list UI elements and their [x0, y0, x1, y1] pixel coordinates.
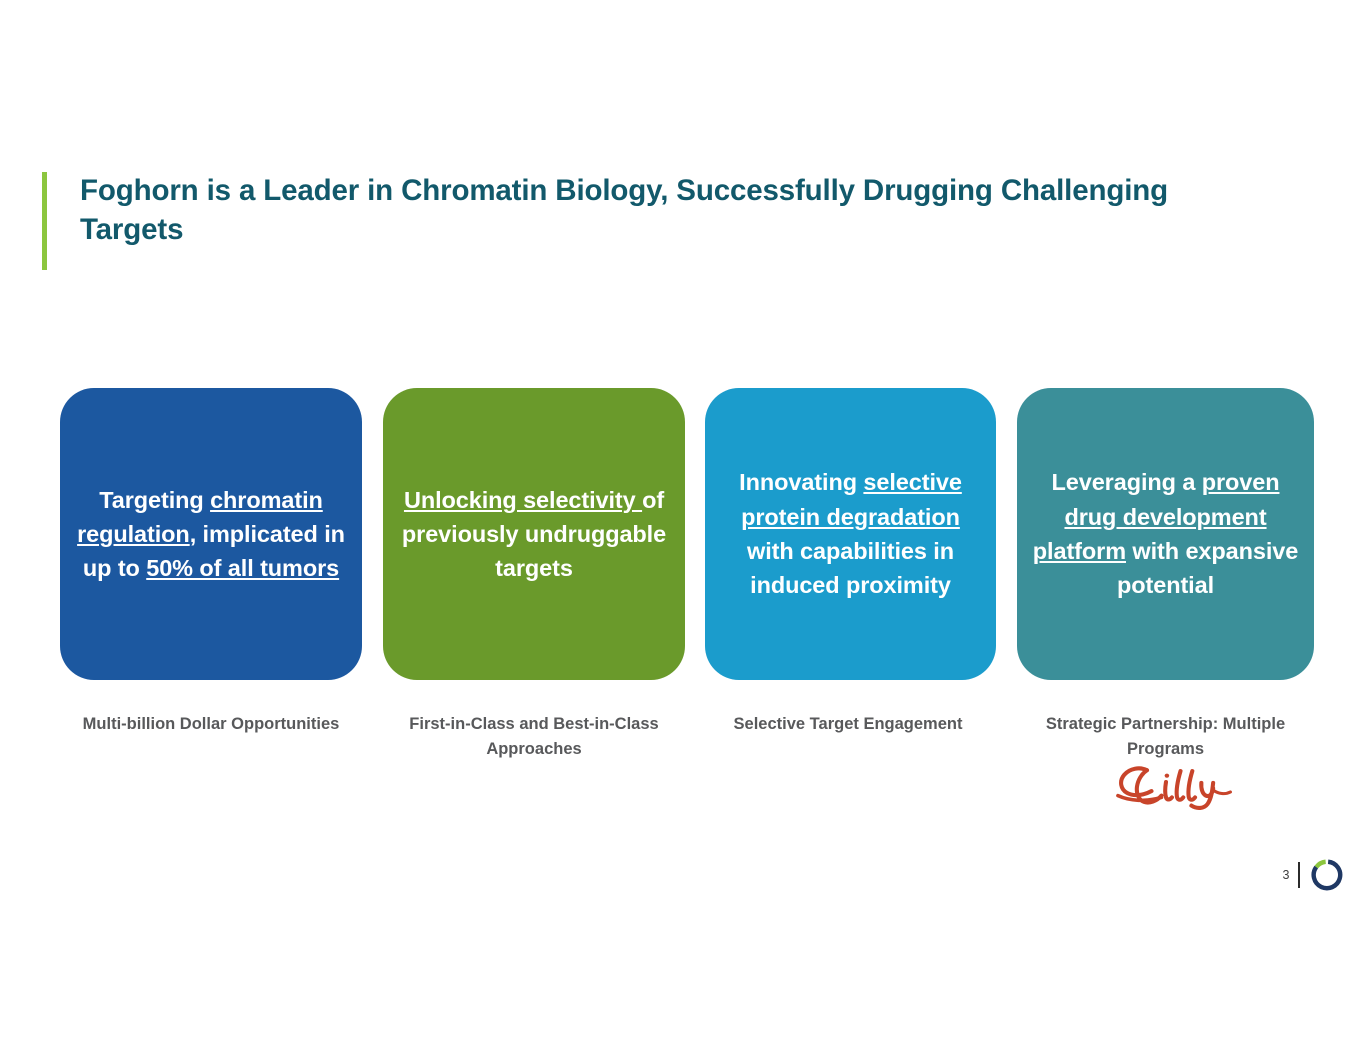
body-text: Innovating: [739, 469, 863, 495]
page-number: 3: [1282, 869, 1289, 882]
pillar-card-unlocking-selectivity[interactable]: Unlocking selectivity of previously undr…: [383, 388, 685, 680]
foghorn-ring-logo-icon: [1309, 858, 1343, 892]
pillar-caption-selective-target-engagement: Selective Target Engagement: [700, 712, 996, 737]
page-title-text: Foghorn is a Leader in Chromatin Biology…: [47, 172, 1172, 270]
body-text: with expansive potential: [1117, 538, 1298, 598]
body-text: with capabilities in induced proximity: [747, 538, 954, 598]
footer-divider: [1298, 862, 1300, 888]
pillar-caption-multi-billion-dollar-opportunities: Multi-billion Dollar Opportunities: [60, 712, 362, 737]
slide-footer: 3: [1282, 858, 1343, 892]
body-text: Leveraging a: [1052, 469, 1202, 495]
emphasis-text: 50% of all tumors: [146, 555, 339, 581]
body-text: Targeting: [99, 487, 210, 513]
emphasis-text: Unlocking selectivity: [404, 487, 642, 513]
pillar-card-row: Targeting chromatin regulation, implicat…: [60, 388, 1314, 680]
pillar-card-text: Leveraging a proven drug development pla…: [1027, 465, 1304, 602]
page-title: Foghorn is a Leader in Chromatin Biology…: [42, 172, 1172, 270]
pillar-card-text: Unlocking selectivity of previously undr…: [393, 483, 675, 586]
lilly-logo: [1098, 762, 1234, 812]
pillar-caption-strategic-partnership: Strategic Partnership: Multiple Programs: [1017, 712, 1314, 762]
pillar-card-drug-development-platform[interactable]: Leveraging a proven drug development pla…: [1017, 388, 1314, 680]
pillar-card-text: Innovating selective protein degradation…: [715, 465, 986, 602]
pillar-card-text: Targeting chromatin regulation, implicat…: [70, 483, 352, 586]
pillar-card-protein-degradation[interactable]: Innovating selective protein degradation…: [705, 388, 996, 680]
pillar-caption-first-in-class-approaches: First-in-Class and Best-in-Class Approac…: [383, 712, 685, 762]
pillar-card-chromatin-regulation[interactable]: Targeting chromatin regulation, implicat…: [60, 388, 362, 680]
